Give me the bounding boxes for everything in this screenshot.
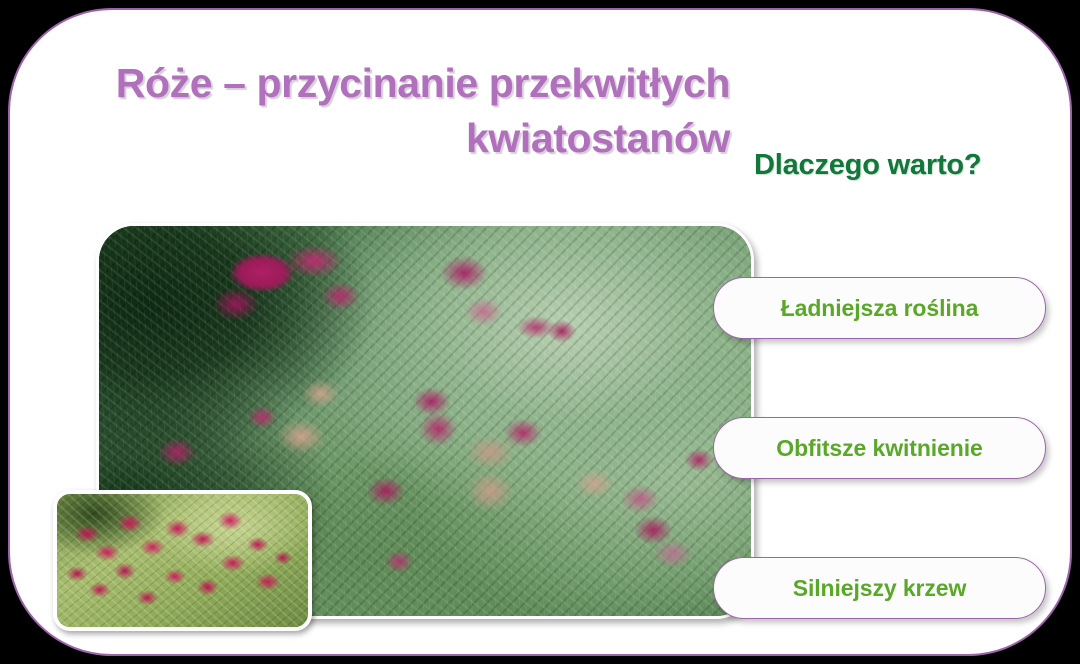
slide-stage: Róże – przycinanie przekwitłych kwiatost… (0, 0, 1080, 664)
inset-photo-bloom-layer (57, 494, 308, 627)
benefit-pill-label: Ładniejsza roślina (781, 295, 979, 322)
inset-photo (53, 490, 312, 631)
benefit-pill-label: Silniejszy krzew (793, 575, 967, 602)
benefit-pill-stronger-shrub[interactable]: Silniejszy krzew (713, 557, 1046, 619)
title-line-2: kwiatostanów (70, 111, 730, 166)
benefit-pill-nicer-plant[interactable]: Ładniejsza roślina (713, 277, 1046, 339)
title-line-1: Róże – przycinanie przekwitłych (60, 56, 730, 111)
benefit-pill-more-blooming[interactable]: Obfitsze kwitnienie (713, 417, 1046, 479)
page-title: Róże – przycinanie przekwitłych kwiatost… (70, 56, 730, 165)
subtitle-question: Dlaczego warto? (754, 149, 981, 182)
benefit-pill-label: Obfitsze kwitnienie (776, 435, 982, 462)
slide-frame: Róże – przycinanie przekwitłych kwiatost… (8, 8, 1072, 656)
